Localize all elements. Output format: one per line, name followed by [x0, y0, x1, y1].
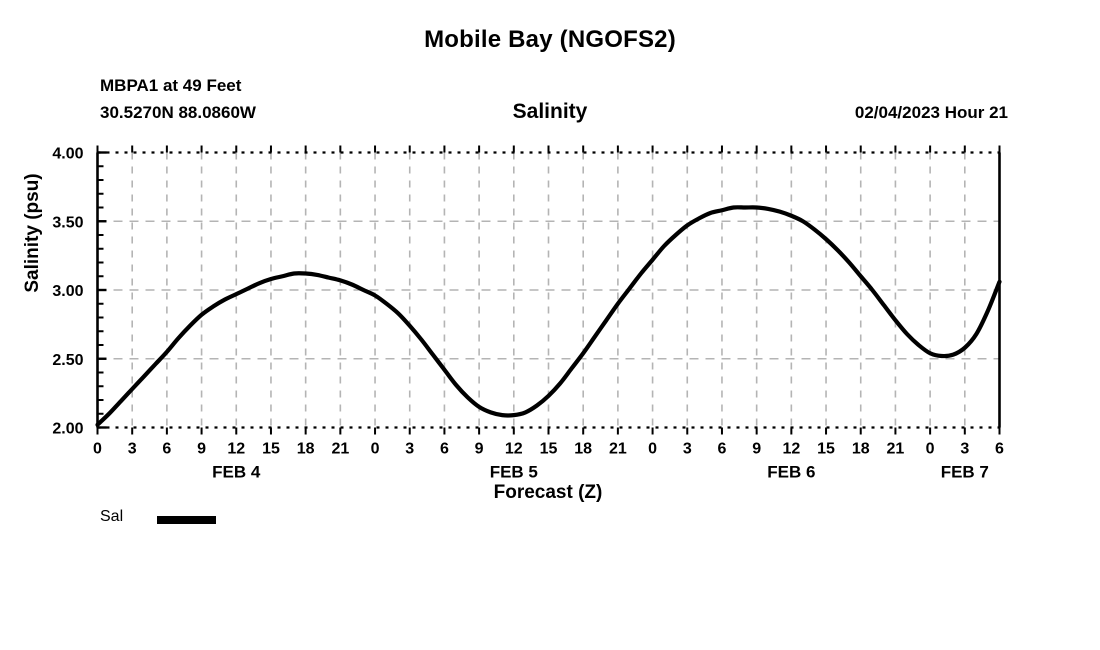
y-tick-labels-group: 2.002.503.003.504.00: [52, 146, 83, 438]
x-tick-label: 9: [752, 441, 761, 458]
x-tick-label: 0: [648, 441, 657, 458]
x-tick-label: 0: [926, 441, 935, 458]
x-tick-label: 18: [297, 441, 315, 458]
day-label: FEB 7: [941, 463, 989, 482]
x-tick-label: 15: [817, 441, 835, 458]
salinity-time-series-chart: 2.002.503.003.504.00 0369121518210369121…: [0, 0, 1100, 650]
x-tick-label: 18: [574, 441, 592, 458]
day-label: FEB 5: [490, 463, 538, 482]
x-tick-label: 0: [371, 441, 380, 458]
x-tick-label: 9: [475, 441, 484, 458]
x-tick-label: 3: [405, 441, 414, 458]
x-tick-label: 21: [609, 441, 627, 458]
x-tick-label: 6: [995, 441, 1004, 458]
y-tick-label: 2.50: [52, 352, 83, 369]
x-tick-label: 0: [93, 441, 102, 458]
x-tick-label: 12: [505, 441, 523, 458]
x-tick-label: 21: [887, 441, 905, 458]
day-label: FEB 4: [212, 463, 261, 482]
day-label: FEB 6: [767, 463, 815, 482]
y-tick-label: 4.00: [52, 146, 83, 163]
x-tick-label: 18: [852, 441, 870, 458]
x-tick-label: 9: [197, 441, 206, 458]
x-tick-label: 12: [782, 441, 800, 458]
x-tick-label: 3: [683, 441, 692, 458]
y-tick-label: 3.50: [52, 214, 83, 231]
x-tick-label: 3: [128, 441, 137, 458]
x-tick-label: 15: [262, 441, 280, 458]
x-tick-label: 12: [227, 441, 245, 458]
legend-series-swatch: [157, 516, 216, 524]
x-tick-label: 6: [440, 441, 449, 458]
gridlines-group: [98, 153, 1000, 428]
day-labels-group: FEB 4FEB 5FEB 6FEB 7: [212, 463, 989, 482]
legend-series-label: Sal: [100, 508, 123, 526]
x-tick-label: 15: [540, 441, 558, 458]
x-tick-label: 6: [162, 441, 171, 458]
x-tick-label: 21: [331, 441, 349, 458]
y-tick-label: 2.00: [52, 421, 83, 438]
x-tick-label: 6: [718, 441, 727, 458]
x-tick-labels-group: 036912151821036912151821036912151821036: [93, 441, 1004, 458]
y-tick-label: 3.00: [52, 283, 83, 300]
x-tick-label: 3: [960, 441, 969, 458]
